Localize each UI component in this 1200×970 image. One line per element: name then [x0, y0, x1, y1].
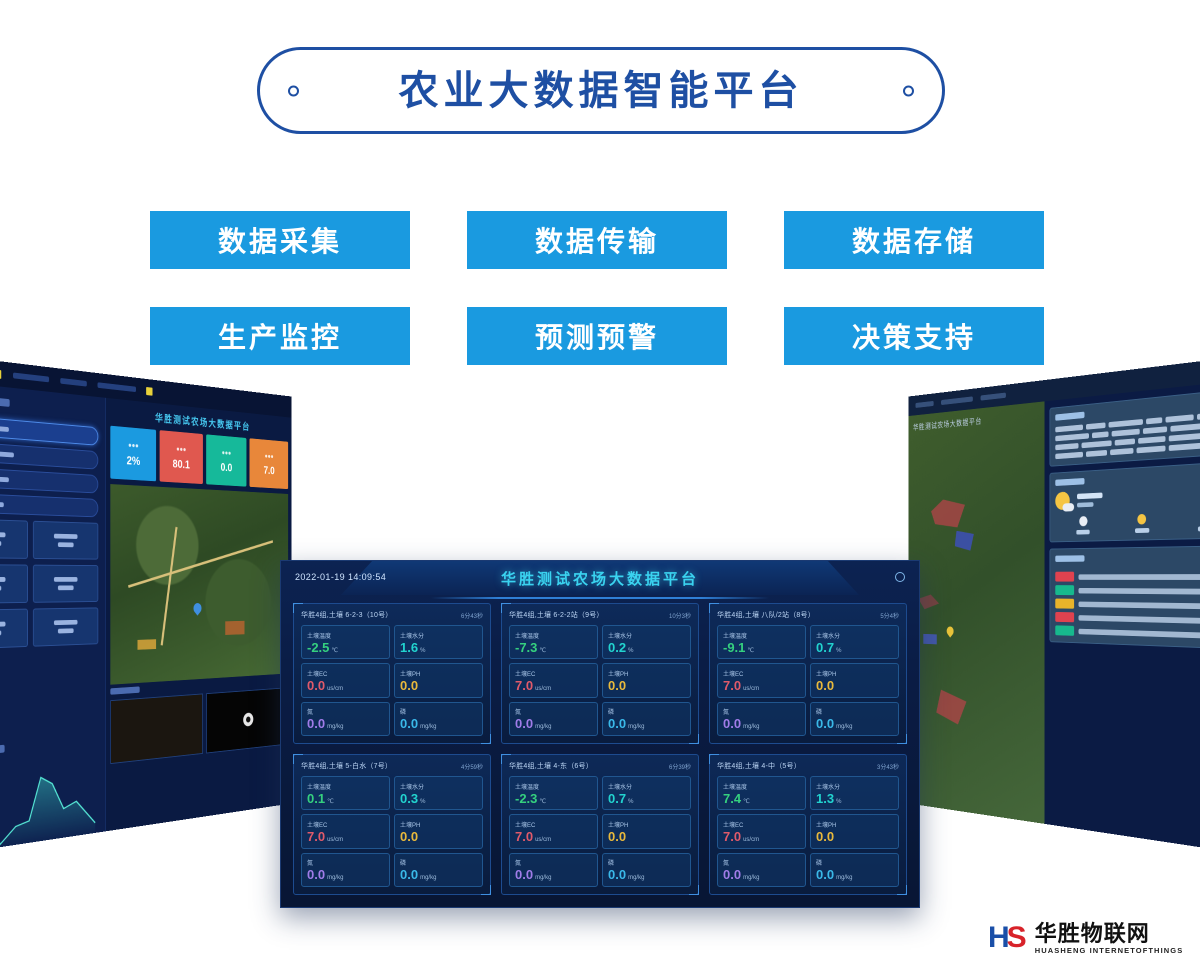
metric-label: 土壤温度: [723, 631, 800, 640]
topbar-chip: [915, 401, 933, 408]
page-title: 农业大数据智能平台: [399, 71, 804, 111]
metric-unit: mg/kg: [327, 724, 343, 730]
metric-value: 0.0: [307, 868, 325, 881]
metric-label: 土壤EC: [515, 820, 592, 829]
screens-stage: 华胜测试农场大数据平台 ●●●2% ●●●80.1 ●●●0.0 ●●●7.0: [0, 355, 1200, 970]
card-title: [1055, 555, 1084, 562]
trend-line-chart: [0, 751, 98, 855]
logo-name-en: HUASHENG INTERNETOFTHINGS: [1035, 947, 1184, 955]
metric-unit: %: [628, 799, 633, 805]
metric-value: 7.0: [723, 830, 741, 843]
left-monitor-screen: 华胜测试农场大数据平台 ●●●2% ●●●80.1 ●●●0.0 ●●●7.0: [0, 355, 292, 855]
metric-label: 磷: [400, 858, 477, 867]
metric-soil-moisture: 土壤水分 0.7%: [602, 776, 691, 810]
banner-dot-right-icon: [903, 85, 914, 96]
camera-thumbnail[interactable]: [206, 687, 288, 753]
metric-unit: mg/kg: [535, 724, 551, 730]
company-logo: HS 华胜物联网 HUASHENG INTERNETOFTHINGS: [988, 922, 1183, 955]
banner-dot-left-icon: [288, 85, 299, 96]
center-panel-title: 华胜测试农场大数据平台: [281, 568, 919, 589]
status-badge: [1055, 585, 1074, 595]
sidebar-item[interactable]: [0, 441, 98, 470]
metric-label: 土壤水分: [400, 631, 477, 640]
metric-unit: mg/kg: [628, 875, 644, 881]
map-pin-icon: [192, 601, 203, 616]
metric-label: 氮: [515, 707, 592, 716]
right-screen-info-column: [1045, 379, 1200, 855]
sensor-card[interactable]: 华胜4组,土壤 4-东（6号） 6分39秒 土壤温度 -2.3℃ 土壤水分 0.…: [501, 754, 699, 895]
metric-unit: %: [420, 648, 425, 654]
metric-label: 氮: [307, 858, 384, 867]
metric-unit: mg/kg: [743, 875, 759, 881]
sidebar-item[interactable]: [0, 415, 98, 446]
sidebar-tile[interactable]: [0, 609, 28, 650]
metric-value: -7.3: [515, 641, 537, 654]
header-underline: [431, 597, 769, 599]
metric-label: 氮: [723, 707, 800, 716]
metric-label: 土壤PH: [400, 669, 477, 678]
forecast-day: [1077, 516, 1090, 535]
sensor-card[interactable]: 华胜4组,土壤 6-2-2站（9号） 10分3秒 土壤温度 -7.3℃ 土壤水分…: [501, 603, 699, 744]
trend-chart-title: [0, 745, 5, 757]
card-title: [1055, 478, 1084, 486]
metric-soil-temperature: 土壤温度 -7.3℃: [509, 625, 598, 659]
metric-value: 0.0: [723, 868, 741, 881]
metric-unit: %: [836, 648, 841, 654]
card-title: [1055, 412, 1084, 421]
metric-unit: us/cm: [327, 837, 343, 843]
metric-label: 土壤温度: [307, 782, 384, 791]
left-screen-main: 华胜测试农场大数据平台 ●●●2% ●●●80.1 ●●●0.0 ●●●7.0: [106, 398, 292, 831]
metric-unit: %: [420, 799, 425, 805]
metric-value: 7.0: [723, 679, 741, 692]
metric-soil-ec: 土壤EC 7.0us/cm: [717, 663, 806, 697]
camera-thumbnail-row: [110, 687, 288, 764]
left-screen-satellite-map[interactable]: [110, 484, 288, 685]
metric-label: 土壤EC: [307, 820, 384, 829]
sensor-card[interactable]: 华胜4组,土壤 4-中（5号） 3分43秒 土壤温度 7.4℃ 土壤水分 1.3…: [709, 754, 907, 895]
feature-button-data-storage[interactable]: 数据存储: [784, 211, 1044, 269]
sensor-name: 华胜4组,土壤 4-中（5号）: [717, 761, 801, 771]
sensor-card[interactable]: 华胜4组,土壤 6-2-3（10号） 6分43秒 土壤温度 -2.5℃ 土壤水分…: [293, 603, 491, 744]
topbar-chip: [13, 373, 49, 383]
topbar-chip: [98, 382, 137, 392]
map-pin-icon: [945, 625, 955, 638]
sensor-card-grid: 华胜4组,土壤 6-2-3（10号） 6分43秒 土壤温度 -2.5℃ 土壤水分…: [281, 599, 919, 908]
topbar-chip: [60, 378, 87, 387]
metric-phosphorus: 磷 0.0mg/kg: [602, 702, 691, 736]
metric-label: 土壤EC: [515, 669, 592, 678]
sensor-name: 华胜4组,土壤 6-2-2站（9号）: [509, 610, 604, 620]
topbar-indicator-icon: [0, 369, 1, 379]
metric-label: 土壤PH: [816, 820, 893, 829]
metric-value: 0.0: [816, 717, 834, 730]
metric-unit: us/cm: [535, 686, 551, 692]
metric-value: 7.0: [307, 830, 325, 843]
metric-label: 土壤温度: [515, 631, 592, 640]
metric-unit: ℃: [539, 798, 546, 805]
topbar-chip: [941, 396, 973, 405]
metric-nitrogen: 氮 0.0mg/kg: [717, 853, 806, 887]
field-polygon: [955, 530, 974, 551]
metric-soil-ph: 土壤PH 0.0: [810, 814, 899, 848]
topbar-chip: [981, 393, 1006, 401]
metric-soil-ec: 土壤EC 7.0us/cm: [509, 663, 598, 697]
camera-section-title: [110, 686, 139, 694]
metric-unit: mg/kg: [420, 724, 436, 730]
metric-label: 土壤水分: [400, 782, 477, 791]
metric-unit: mg/kg: [628, 724, 644, 730]
metric-value: 7.4: [723, 792, 741, 805]
alert-row[interactable]: [1055, 625, 1200, 641]
sensor-update-time: 3分43秒: [877, 762, 899, 771]
metric-unit: ℃: [743, 798, 750, 805]
logo-name-cn: 华胜物联网: [1035, 922, 1184, 945]
metric-value: 0.0: [307, 717, 325, 730]
alert-row[interactable]: [1055, 571, 1200, 582]
metric-soil-ph: 土壤PH 0.0: [602, 663, 691, 697]
forecast-day: [1135, 514, 1149, 533]
sun-cloud-icon: [1055, 491, 1069, 510]
metric-label: 土壤温度: [307, 631, 384, 640]
metric-value: 0.0: [400, 830, 418, 843]
metric-unit: mg/kg: [836, 875, 852, 881]
metric-unit: ℃: [327, 798, 334, 805]
camera-dome-icon: [243, 712, 253, 726]
metric-value: 1.6: [400, 641, 418, 654]
left-screen-body: 华胜测试农场大数据平台 ●●●2% ●●●80.1 ●●●0.0 ●●●7.0: [0, 381, 292, 855]
metric-value: 0.0: [608, 679, 626, 692]
camera-thumbnail[interactable]: [110, 694, 202, 765]
metric-label: 氮: [723, 858, 800, 867]
metric-soil-ph: 土壤PH 0.0: [602, 814, 691, 848]
metric-unit: %: [836, 799, 841, 805]
metric-value: 0.0: [816, 868, 834, 881]
field-polygon: [931, 498, 965, 528]
metric-value: 0.0: [816, 830, 834, 843]
metric-label: 磷: [400, 707, 477, 716]
metric-nitrogen: 氮 0.0mg/kg: [717, 702, 806, 736]
metric-nitrogen: 氮 0.0mg/kg: [301, 853, 390, 887]
metric-value: 0.0: [400, 717, 418, 730]
metric-value: 7.0: [515, 679, 533, 692]
alert-row[interactable]: [1055, 585, 1200, 597]
kpi-tile[interactable]: ●●●2%: [110, 426, 156, 482]
metric-soil-ph: 土壤PH 0.0: [394, 814, 483, 848]
sensor-card[interactable]: 华胜4组,土壤 八队/2站（8号） 5分4秒 土壤温度 -9.1℃ 土壤水分 0…: [709, 603, 907, 744]
metric-soil-ph: 土壤PH 0.0: [810, 663, 899, 697]
metric-value: 1.3: [816, 792, 834, 805]
sensor-update-time: 10分3秒: [669, 611, 691, 620]
alert-row[interactable]: [1055, 599, 1200, 612]
metric-nitrogen: 氮 0.0mg/kg: [509, 853, 598, 887]
metric-value: 0.0: [515, 717, 533, 730]
metric-unit: %: [628, 648, 633, 654]
sidebar-section-title: [0, 394, 10, 407]
right-screen-body: 华胜测试农场大数据平台: [908, 379, 1200, 855]
metric-soil-temperature: 土壤温度 0.1℃: [301, 776, 390, 810]
metric-label: 土壤PH: [400, 820, 477, 829]
metric-soil-moisture: 土壤水分 1.6%: [394, 625, 483, 659]
metric-label: 土壤EC: [723, 669, 800, 678]
metric-value: -2.3: [515, 792, 537, 805]
metric-label: 土壤PH: [816, 669, 893, 678]
metric-value: 0.0: [608, 830, 626, 843]
alert-list-card: [1050, 545, 1200, 650]
topbar-indicator-icon: [146, 387, 152, 396]
gear-icon[interactable]: [895, 572, 905, 582]
field-polygon: [936, 689, 966, 725]
sensor-update-time: 6分39秒: [669, 762, 691, 771]
metric-phosphorus: 磷 0.0mg/kg: [810, 702, 899, 736]
metric-nitrogen: 氮 0.0mg/kg: [301, 702, 390, 736]
status-badge: [1055, 625, 1074, 635]
metric-soil-ec: 土壤EC 7.0us/cm: [717, 814, 806, 848]
metric-label: 磷: [816, 858, 893, 867]
metric-unit: ℃: [747, 647, 754, 654]
metric-value: 0.0: [608, 868, 626, 881]
right-screen-map-title: 华胜测试农场大数据平台: [913, 415, 982, 433]
sensor-name: 华胜4组,土壤 6-2-3（10号）: [301, 610, 393, 620]
metric-unit: us/cm: [327, 686, 343, 692]
kpi-tile[interactable]: ●●●80.1: [159, 430, 202, 484]
logo-mark-icon: HS: [988, 923, 1027, 953]
metric-phosphorus: 磷 0.0mg/kg: [394, 702, 483, 736]
metric-soil-moisture: 土壤水分 0.2%: [602, 625, 691, 659]
metric-soil-temperature: 土壤温度 -2.3℃: [509, 776, 598, 810]
sensor-name: 华胜4组,土壤 八队/2站（8号）: [717, 610, 815, 620]
metric-phosphorus: 磷 0.0mg/kg: [810, 853, 899, 887]
left-screen-sidebar: [0, 381, 106, 855]
metric-unit: mg/kg: [535, 875, 551, 881]
metric-value: 0.0: [307, 679, 325, 692]
metric-value: 0.3: [400, 792, 418, 805]
weather-card: [1050, 460, 1200, 542]
metric-phosphorus: 磷 0.0mg/kg: [602, 853, 691, 887]
sensor-update-time: 5分4秒: [880, 611, 899, 620]
metric-label: 磷: [816, 707, 893, 716]
sidebar-tile[interactable]: [32, 607, 98, 646]
right-screen-field-map[interactable]: 华胜测试农场大数据平台: [908, 401, 1044, 823]
status-badge: [1055, 612, 1074, 622]
center-panel-header: 2022-01-19 14:09:54 华胜测试农场大数据平台: [281, 561, 919, 599]
metric-value: 0.2: [608, 641, 626, 654]
metric-label: 氮: [515, 858, 592, 867]
metric-nitrogen: 氮 0.0mg/kg: [509, 702, 598, 736]
feature-button-data-transmission[interactable]: 数据传输: [467, 211, 727, 269]
sensor-update-time: 6分43秒: [461, 611, 483, 620]
metric-unit: us/cm: [535, 837, 551, 843]
metric-value: 0.7: [608, 792, 626, 805]
metric-unit: mg/kg: [420, 875, 436, 881]
sidebar-item[interactable]: [0, 492, 98, 517]
metric-unit: mg/kg: [743, 724, 759, 730]
feature-button-group: 数据采集 数据传输 数据存储 生产监控 预测预警 决策支持: [150, 211, 1050, 365]
metric-value: 0.7: [816, 641, 834, 654]
metric-value: 0.0: [723, 717, 741, 730]
title-banner: 农业大数据智能平台: [257, 47, 945, 134]
metric-soil-ec: 土壤EC 7.0us/cm: [509, 814, 598, 848]
sensor-name: 华胜4组,土壤 4-东（6号）: [509, 761, 593, 771]
status-badge: [1055, 572, 1074, 582]
metric-label: 磷: [608, 858, 685, 867]
sensor-update-time: 4分59秒: [461, 762, 483, 771]
metric-value: 0.0: [515, 868, 533, 881]
metric-value: -2.5: [307, 641, 329, 654]
metric-unit: ℃: [539, 647, 546, 654]
metric-soil-temperature: 土壤温度 -9.1℃: [717, 625, 806, 659]
metric-value: 0.0: [816, 679, 834, 692]
metric-label: 土壤PH: [608, 820, 685, 829]
sidebar-item[interactable]: [0, 466, 98, 493]
sensor-name: 华胜4组,土壤 5-白水（7号）: [301, 761, 392, 771]
kpi-tile[interactable]: ●●●7.0: [250, 438, 288, 489]
metric-soil-temperature: 土壤温度 -2.5℃: [301, 625, 390, 659]
metric-value: 7.0: [515, 830, 533, 843]
metric-label: 土壤水分: [608, 631, 685, 640]
metric-unit: us/cm: [743, 686, 759, 692]
metric-label: 土壤温度: [515, 782, 592, 791]
metric-label: 土壤EC: [723, 820, 800, 829]
metric-phosphorus: 磷 0.0mg/kg: [394, 853, 483, 887]
status-badge: [1055, 599, 1074, 609]
weather-current: [1055, 483, 1200, 510]
poster-root: 农业大数据智能平台 数据采集 数据传输 数据存储 生产监控 预测预警 决策支持: [0, 0, 1200, 970]
metric-soil-ec: 土壤EC 0.0us/cm: [301, 663, 390, 697]
sensor-card[interactable]: 华胜4组,土壤 5-白水（7号） 4分59秒 土壤温度 0.1℃ 土壤水分 0.…: [293, 754, 491, 895]
metric-value: 0.0: [608, 717, 626, 730]
metric-label: 土壤水分: [608, 782, 685, 791]
metric-label: 土壤水分: [816, 631, 893, 640]
metric-label: 土壤水分: [816, 782, 893, 791]
metric-unit: mg/kg: [836, 724, 852, 730]
sidebar-tile[interactable]: [0, 518, 28, 559]
sidebar-tile-grid: [0, 518, 98, 649]
metric-unit: mg/kg: [327, 875, 343, 881]
metric-value: 0.0: [400, 868, 418, 881]
metric-label: 氮: [307, 707, 384, 716]
metric-label: 土壤PH: [608, 669, 685, 678]
metric-soil-moisture: 土壤水分 1.3%: [810, 776, 899, 810]
field-polygon: [918, 594, 939, 609]
sidebar-tile[interactable]: [0, 564, 28, 604]
metric-soil-moisture: 土壤水分 0.3%: [394, 776, 483, 810]
metric-value: 0.1: [307, 792, 325, 805]
metric-label: 土壤EC: [307, 669, 384, 678]
field-polygon: [923, 634, 936, 644]
info-list-card: [1050, 388, 1200, 467]
right-monitor-screen: 华胜测试农场大数据平台: [908, 355, 1200, 855]
sidebar-tile[interactable]: [32, 565, 98, 603]
metric-label: 磷: [608, 707, 685, 716]
metric-unit: us/cm: [743, 837, 759, 843]
sidebar-tile[interactable]: [32, 521, 98, 560]
metric-value: 0.0: [400, 679, 418, 692]
metric-soil-moisture: 土壤水分 0.7%: [810, 625, 899, 659]
logo-mark-s: S: [1007, 923, 1027, 953]
alert-row[interactable]: [1055, 612, 1200, 627]
metric-label: 土壤温度: [723, 782, 800, 791]
metric-soil-temperature: 土壤温度 7.4℃: [717, 776, 806, 810]
metric-soil-ec: 土壤EC 7.0us/cm: [301, 814, 390, 848]
metric-unit: ℃: [331, 647, 338, 654]
kpi-tile[interactable]: ●●●0.0: [206, 434, 247, 486]
feature-button-data-collection[interactable]: 数据采集: [150, 211, 410, 269]
metric-soil-ph: 土壤PH 0.0: [394, 663, 483, 697]
center-dashboard-panel: 2022-01-19 14:09:54 华胜测试农场大数据平台 华胜4组,土壤 …: [280, 560, 920, 908]
metric-value: -9.1: [723, 641, 745, 654]
weather-forecast: [1055, 510, 1200, 535]
